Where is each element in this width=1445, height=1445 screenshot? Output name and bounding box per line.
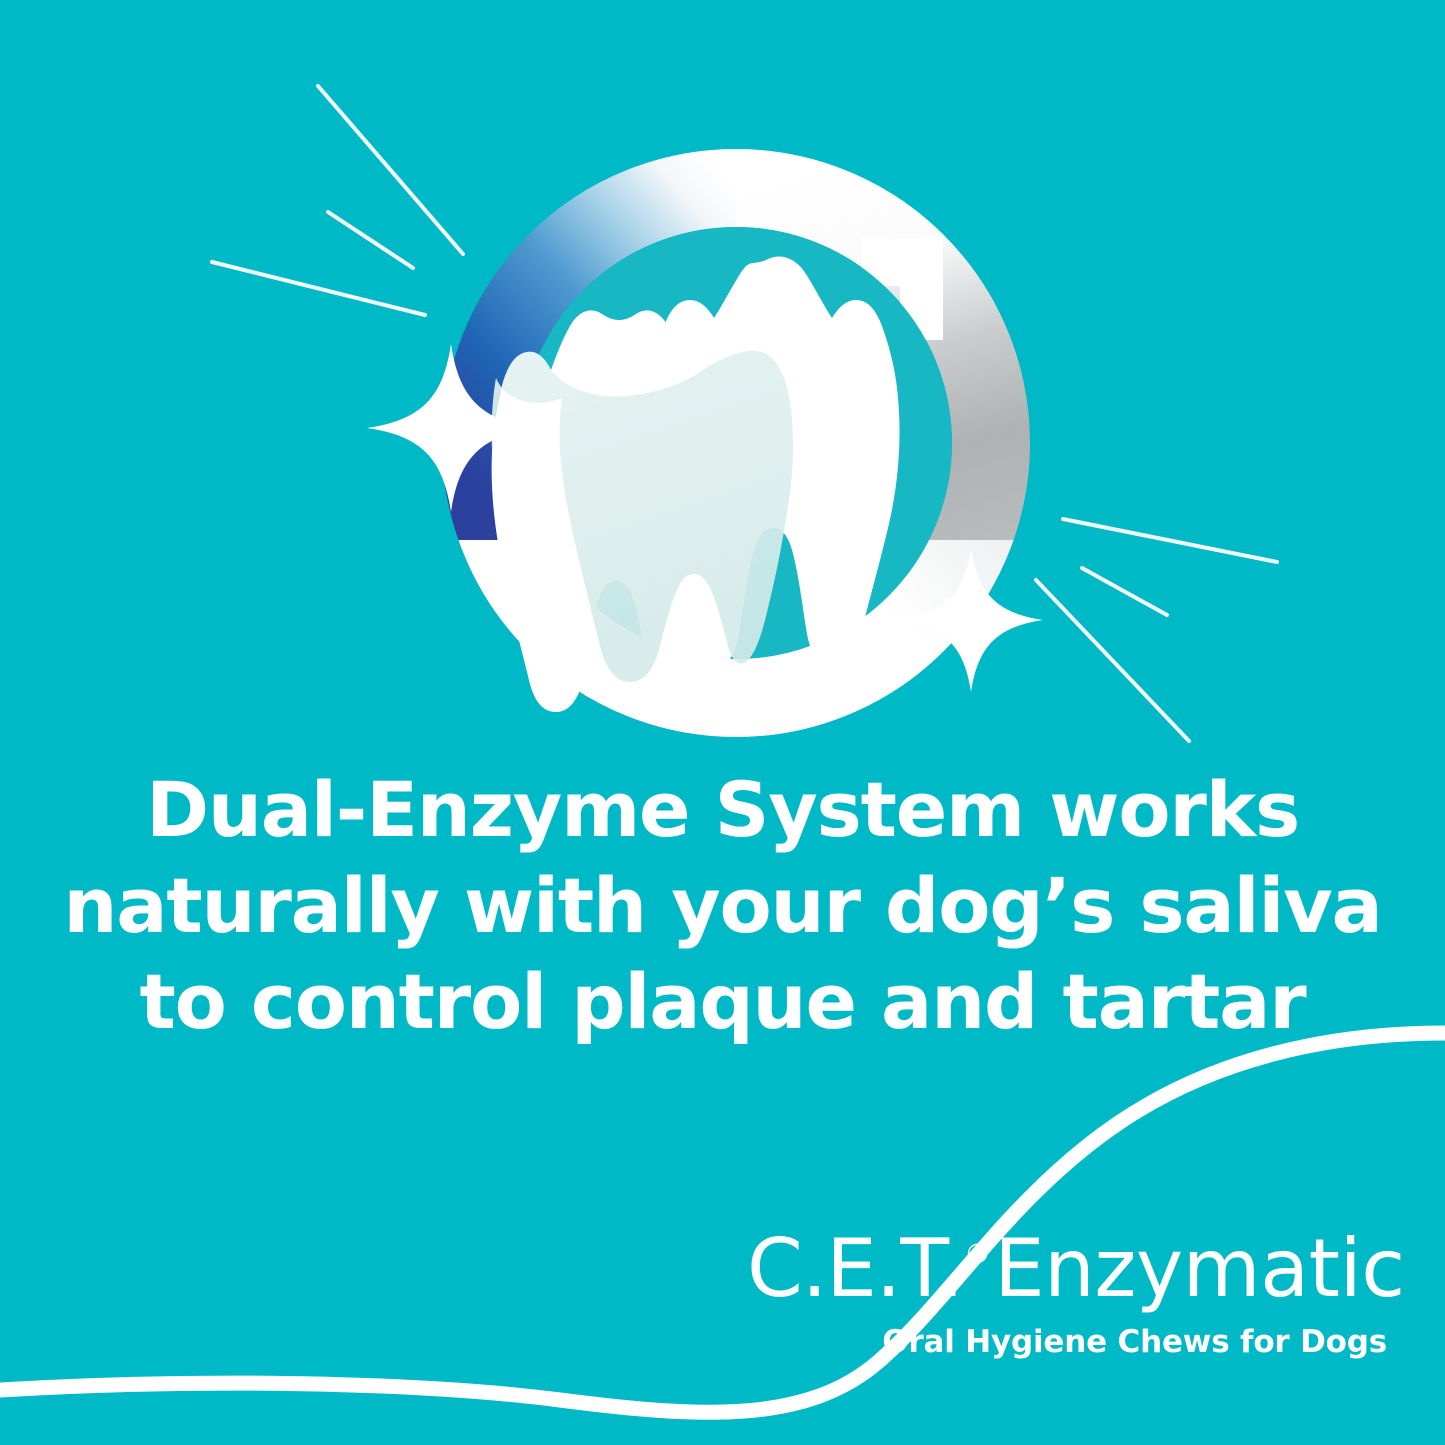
sparkle-rays-bottom-right <box>1036 519 1277 741</box>
brand-name-prefix: C.E.T. <box>747 1222 963 1315</box>
hero-icon-region <box>0 0 1445 770</box>
registered-trademark-icon: ® <box>964 1239 991 1270</box>
headline-line-1: Dual-Enzyme System works <box>0 762 1445 858</box>
promo-graphic-canvas: Dual-Enzyme System works naturally with … <box>0 0 1445 1445</box>
headline-line-2: naturally with your dog’s saliva <box>0 858 1445 954</box>
brand-name: C.E.T.®Enzymatic <box>747 1212 1387 1312</box>
brand-name-suffix: Enzymatic <box>994 1222 1405 1315</box>
brand-lockup: C.E.T.®Enzymatic Oral Hygiene Chews for … <box>747 1212 1387 1361</box>
sparkle-rays-top-left <box>212 86 463 315</box>
brand-tagline: Oral Hygiene Chews for Dogs <box>747 1323 1387 1361</box>
tooth-in-rotating-ring-icon <box>0 0 1445 770</box>
